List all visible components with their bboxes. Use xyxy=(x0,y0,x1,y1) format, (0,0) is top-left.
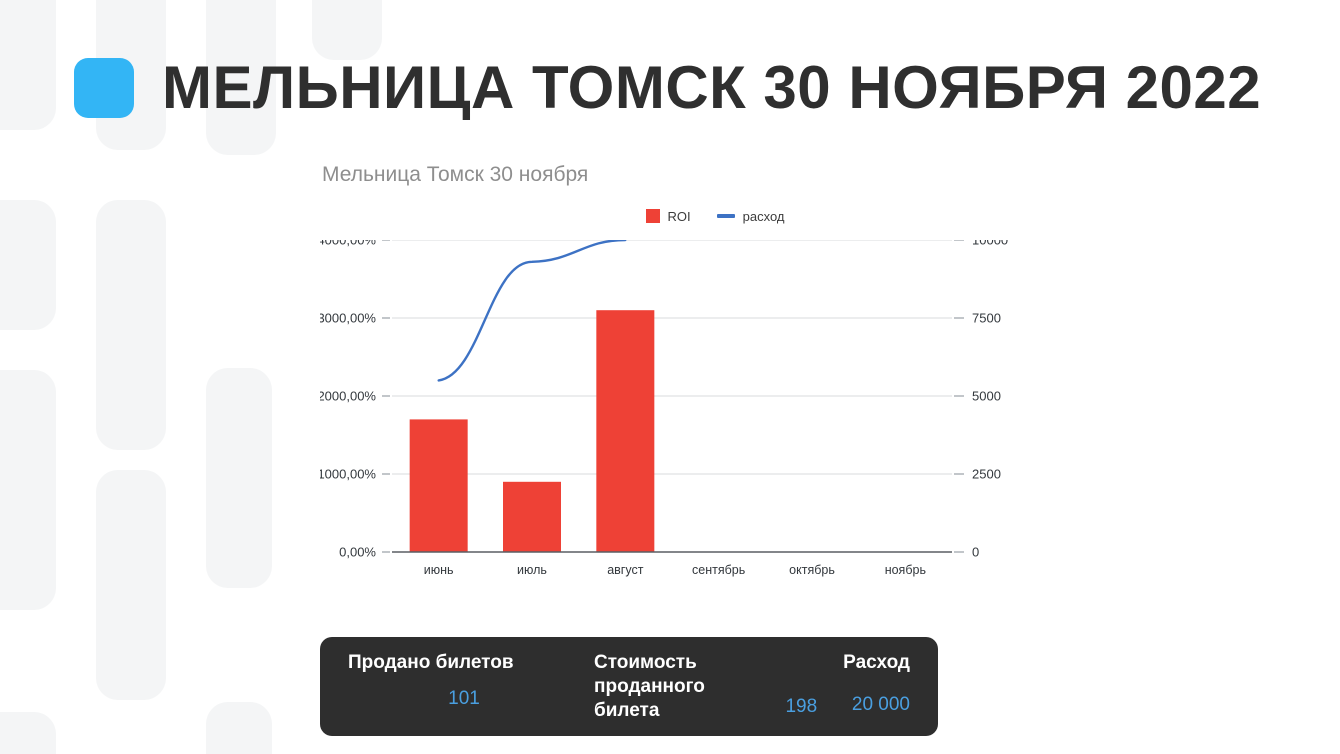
right-axis-tick-label: 0 xyxy=(972,545,979,560)
legend-label-spend: расход xyxy=(743,209,785,224)
decor-bar-8 xyxy=(0,370,56,610)
legend-item-spend[interactable]: расход xyxy=(717,209,785,224)
brand-square-icon xyxy=(74,58,134,118)
right-axis-ticks xyxy=(954,240,964,552)
stat-tickets-sold-label: Продано билетов xyxy=(348,651,580,675)
decor-bar-5 xyxy=(0,200,56,330)
bar-июнь[interactable] xyxy=(410,419,468,552)
bar-series xyxy=(410,310,655,552)
left-axis-ticks xyxy=(382,240,390,552)
legend-label-roi: ROI xyxy=(668,209,691,224)
left-axis-tick-label: 2000,00% xyxy=(320,389,376,404)
stat-spend-value: 20 000 xyxy=(843,693,910,717)
stat-ticket-price-value: 198 xyxy=(785,695,817,719)
decor-bar-6 xyxy=(96,200,166,450)
right-axis-labels: 025005000750010000 xyxy=(972,240,1008,560)
right-axis-tick-label: 10000 xyxy=(972,240,1008,248)
category-labels: июньиюльавгустсентябрьоктябрьноябрь xyxy=(424,563,926,577)
stat-spend: Расход 20 000 xyxy=(817,651,910,717)
stat-ticket-price-label: Стоимость проданного билета xyxy=(594,651,754,723)
stat-ticket-price: Стоимость проданного билета 198 xyxy=(580,651,817,723)
left-axis-tick-label: 1000,00% xyxy=(320,467,376,482)
right-axis-tick-label: 7500 xyxy=(972,311,1001,326)
bar-август[interactable] xyxy=(596,310,654,552)
category-label-октябрь: октябрь xyxy=(789,563,835,577)
left-axis-labels: 0,00%1000,00%2000,00%3000,00%4000,00% xyxy=(320,240,376,560)
decor-bar-1 xyxy=(0,0,56,130)
stat-tickets-sold: Продано билетов 101 xyxy=(348,651,580,711)
plot-area: 0,00%1000,00%2000,00%3000,00%4000,00% 02… xyxy=(320,240,1020,590)
category-label-июнь: июнь xyxy=(424,563,454,577)
decor-bar-9 xyxy=(96,470,166,700)
left-axis-tick-label: 0,00% xyxy=(339,545,376,560)
page-title: МЕЛЬНИЦА ТОМСК 30 НОЯБРЯ 2022 xyxy=(162,58,1261,118)
right-axis-tick-label: 5000 xyxy=(972,389,1001,404)
decor-bar-7 xyxy=(206,368,272,588)
decor-bar-11 xyxy=(206,702,272,754)
stat-tickets-sold-value: 101 xyxy=(348,687,580,711)
chart-title: Мельница Томск 30 ноября xyxy=(322,160,1020,190)
stats-panel: Продано билетов 101 Стоимость проданного… xyxy=(320,637,938,736)
legend-swatch-square-icon xyxy=(646,209,660,223)
gridlines xyxy=(392,240,952,474)
chart-card: Мельница Томск 30 ноября ROI расход 0,00… xyxy=(320,160,1020,590)
category-label-июль: июль xyxy=(517,563,547,577)
category-label-ноябрь: ноябрь xyxy=(885,563,926,577)
legend-swatch-line-icon xyxy=(717,214,735,218)
left-axis-tick-label: 3000,00% xyxy=(320,311,376,326)
decor-bar-4 xyxy=(312,0,382,60)
legend-item-roi[interactable]: ROI xyxy=(646,209,691,224)
left-axis-tick-label: 4000,00% xyxy=(320,240,376,248)
right-axis-tick-label: 2500 xyxy=(972,467,1001,482)
decor-bar-10 xyxy=(0,712,56,754)
bar-июль[interactable] xyxy=(503,482,561,552)
slide-canvas: МЕЛЬНИЦА ТОМСК 30 НОЯБРЯ 2022 Мельница Т… xyxy=(0,0,1340,754)
category-label-август: август xyxy=(607,563,644,577)
category-label-сентябрь: сентябрь xyxy=(692,563,745,577)
chart-legend: ROI расход xyxy=(320,206,1020,226)
stat-spend-label: Расход xyxy=(843,651,910,675)
header: МЕЛЬНИЦА ТОМСК 30 НОЯБРЯ 2022 xyxy=(74,58,1261,118)
